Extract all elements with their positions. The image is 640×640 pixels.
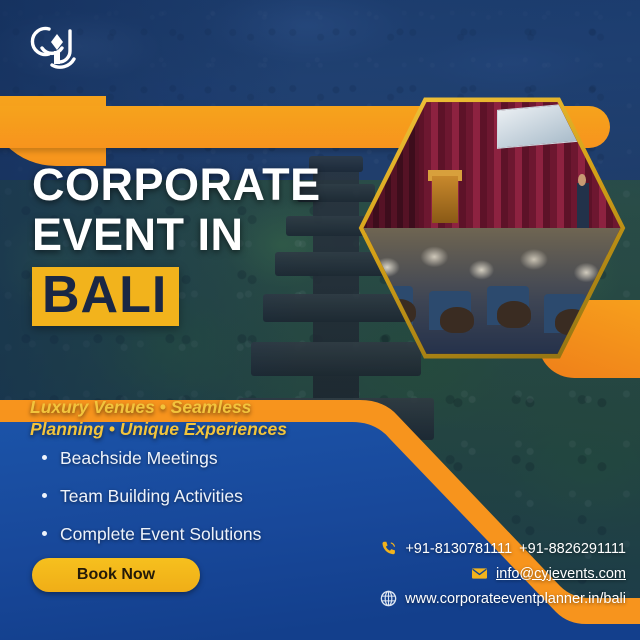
book-now-button[interactable]: Book Now <box>32 558 200 592</box>
tagline: Luxury Venues • Seamless Planning • Uniq… <box>30 396 330 440</box>
phone-number-2: +91-8826291111 <box>519 541 626 557</box>
list-item: Complete Event Solutions <box>42 524 342 544</box>
headline: CORPORATE EVENT IN BALI <box>32 160 362 326</box>
phone-number-1: +91-8130781111 <box>405 541 512 557</box>
list-item: Team Building Activities <box>42 486 342 506</box>
contact-details: +91-8130781111 +91-8826291111 info@cyjev… <box>326 539 626 614</box>
website-row[interactable]: www.corporateeventplanner.in/bali <box>326 589 626 608</box>
website-url[interactable]: www.corporateeventplanner.in/bali <box>405 591 626 607</box>
cyj-monogram-logo[interactable] <box>18 18 90 80</box>
headline-line-1: CORPORATE <box>32 160 362 210</box>
headline-line-2: EVENT IN <box>32 210 362 260</box>
audience-seating <box>361 228 623 359</box>
globe-icon <box>379 589 398 608</box>
conference-photo <box>361 97 623 359</box>
projection-screen <box>497 100 607 149</box>
envelope-icon <box>470 564 489 583</box>
destination-highlight: BALI <box>32 267 179 326</box>
feature-list: Beachside Meetings Team Building Activit… <box>42 448 342 562</box>
hexagon-photo-frame <box>356 92 628 364</box>
speaker-on-stage <box>577 183 589 230</box>
list-item: Beachside Meetings <box>42 448 342 468</box>
podium <box>432 176 458 223</box>
email-address[interactable]: info@cyjevents.com <box>496 566 626 582</box>
email-row[interactable]: info@cyjevents.com <box>326 564 626 583</box>
promotional-poster: CORPORATE EVENT IN BALI Luxury Venues • … <box>0 0 640 640</box>
phone-row[interactable]: +91-8130781111 +91-8826291111 <box>326 539 626 558</box>
phone-icon <box>379 539 398 558</box>
